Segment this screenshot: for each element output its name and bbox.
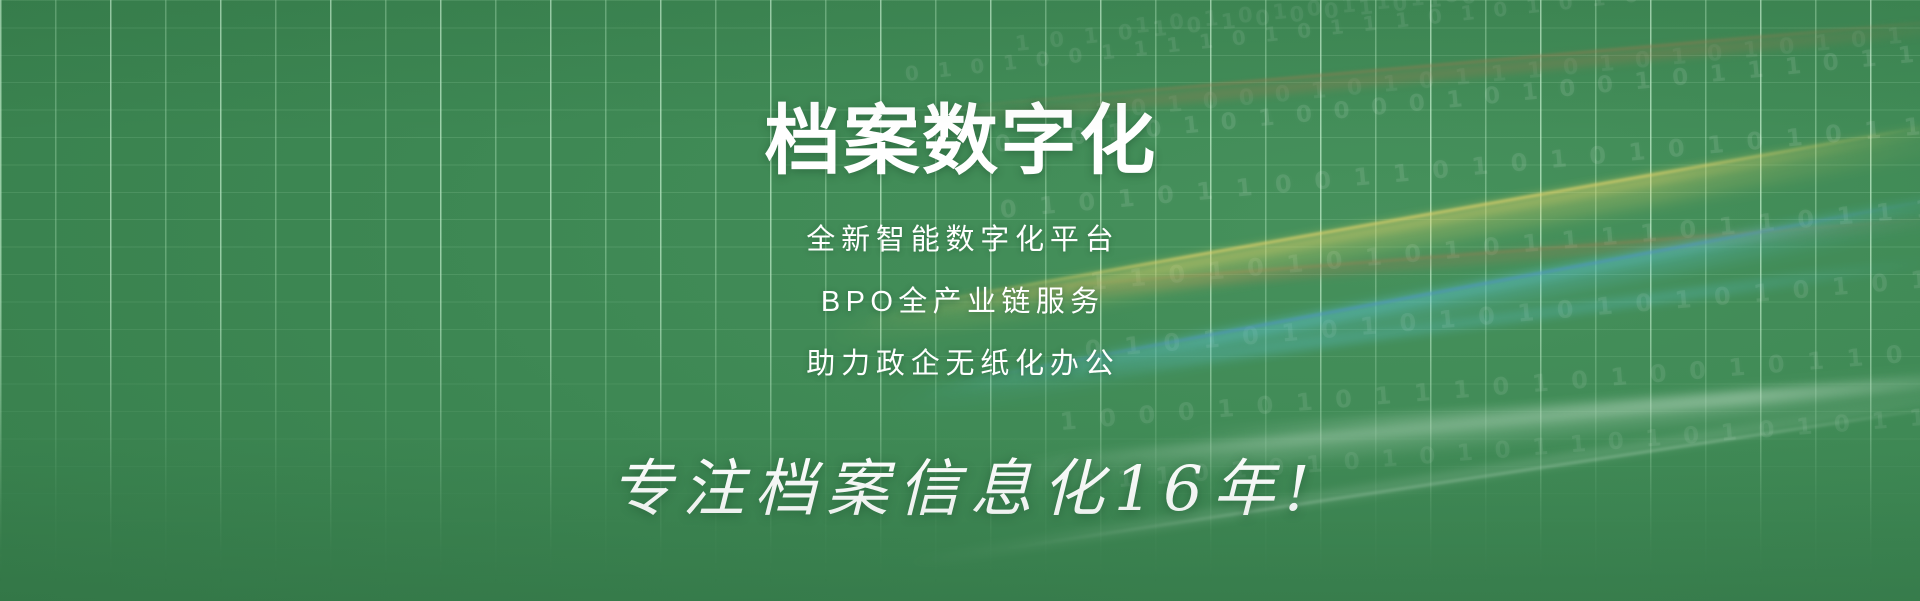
banner-headline: 档案数字化 xyxy=(0,104,1920,180)
digital-archive-banner: 0 1 0 1 0 0 1 1 1 1 0 1 0 1 1 1 0 1 0 1 … xyxy=(0,0,1920,601)
banner-content: 档案数字化 全新智能数字化平台 BPO全产业链服务 助力政企无纸化办公 专注档案… xyxy=(0,0,1920,601)
banner-subtitle-3: 助力政企无纸化办公 xyxy=(0,350,1920,379)
banner-subtitle-2: BPO全产业链服务 xyxy=(0,288,1920,317)
banner-subtitle-1: 全新智能数字化平台 xyxy=(0,226,1920,255)
banner-slogan: 专注档案信息化16年! xyxy=(0,456,1920,523)
